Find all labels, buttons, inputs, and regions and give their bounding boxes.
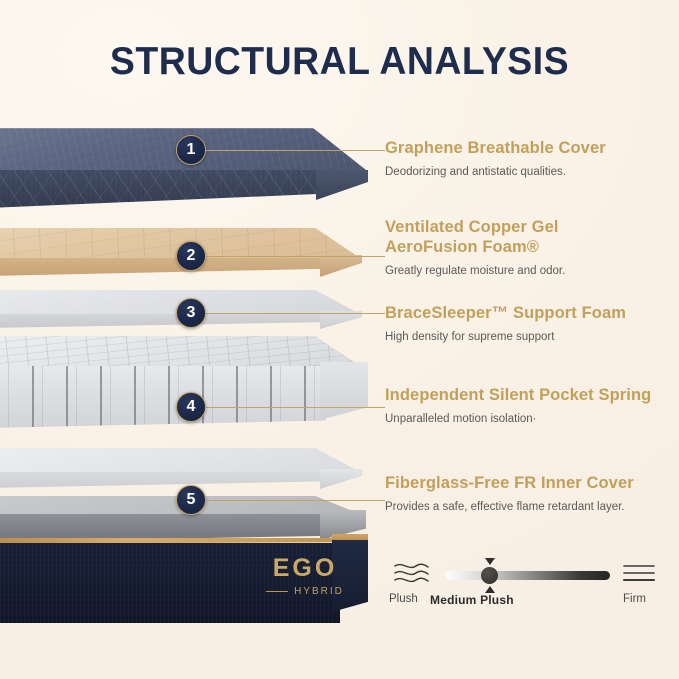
firmness-slider-knob[interactable] xyxy=(481,567,498,584)
layer-label-1: Graphene Breathable Cover Deodorizing an… xyxy=(385,138,679,180)
layer-5-fr-cover-face xyxy=(0,514,326,542)
brand-logo: EGO HYBRID xyxy=(258,556,352,597)
layer-2-title-line-2: AeroFusion Foam® xyxy=(385,237,679,257)
layer-2-copper-gel-foam-face xyxy=(0,258,326,276)
layer-2-copper-gel-foam-side xyxy=(320,255,362,277)
leader-line-3 xyxy=(205,313,385,314)
firmness-selected-label: Medium Plush xyxy=(430,593,514,607)
layer-badge-2[interactable]: 2 xyxy=(176,241,206,271)
layer-badge-5[interactable]: 5 xyxy=(176,485,206,515)
layer-3-support-foam-face xyxy=(0,314,326,328)
leader-line-4 xyxy=(205,407,385,408)
layer-2-description: Greatly regulate moisture and odor. xyxy=(385,264,679,279)
layer-badge-4[interactable]: 4 xyxy=(176,392,206,422)
layer-badge-1[interactable]: 1 xyxy=(176,135,206,165)
firmness-left-label: Plush xyxy=(389,593,418,605)
layer-4-title: Independent Silent Pocket Spring xyxy=(385,385,679,405)
layer-2-title-line-1: Ventilated Copper Gel xyxy=(385,217,679,237)
layer-3-title: BraceSleeper™ Support Foam xyxy=(385,303,679,323)
layer-5-title: Fiberglass-Free FR Inner Cover xyxy=(385,473,679,493)
layer-5-description: Provides a safe, effective flame retarda… xyxy=(385,500,679,515)
layer-label-2: Ventilated Copper Gel AeroFusion Foam® G… xyxy=(385,217,679,279)
layer-1-graphene-cover-face xyxy=(0,170,328,208)
layer-1-graphene-cover-side xyxy=(316,170,368,200)
layer-1-description: Deodorizing and antistatic qualities. xyxy=(385,165,679,180)
firmness-marker-up-icon xyxy=(485,558,495,565)
layer-badge-3[interactable]: 3 xyxy=(176,298,206,328)
firmness-slider[interactable] xyxy=(445,571,610,580)
layer-4-pocket-spring-top xyxy=(0,336,360,366)
leader-line-5 xyxy=(205,500,385,501)
firmness-slider-track[interactable] xyxy=(445,571,610,580)
mattress-layer-stack: EGO HYBRID xyxy=(0,0,390,679)
layer-4-pocket-spring-coils xyxy=(0,366,326,428)
lines-icon xyxy=(621,562,657,584)
layer-5-fr-cover-upper-top xyxy=(0,448,360,472)
layer-label-3: BraceSleeper™ Support Foam High density … xyxy=(385,303,679,345)
brand-name: EGO xyxy=(258,556,352,581)
layer-label-4: Independent Silent Pocket Spring Unparal… xyxy=(385,385,679,427)
layer-4-pocket-spring-side xyxy=(320,362,368,420)
firmness-marker-down-icon xyxy=(485,586,495,593)
layer-3-description: High density for supreme support xyxy=(385,330,679,345)
leader-line-1 xyxy=(205,150,385,151)
layer-4-description: Unparalleled motion isolation· xyxy=(385,412,679,427)
brand-sub: HYBRID xyxy=(294,586,344,597)
layer-label-5: Fiberglass-Free FR Inner Cover Provides … xyxy=(385,473,679,515)
layer-5-fr-cover-upper-side xyxy=(320,469,362,489)
firmness-right-label: Firm xyxy=(623,593,646,605)
layer-5-fr-cover-upper-face xyxy=(0,472,326,488)
brand-sub-row: HYBRID xyxy=(258,586,352,597)
leader-line-2 xyxy=(205,256,385,257)
firmness-scale: Plush Medium Plush Firm xyxy=(385,556,657,616)
waves-icon xyxy=(391,560,433,586)
layer-1-title: Graphene Breathable Cover xyxy=(385,138,679,158)
logo-dash-icon xyxy=(266,591,288,592)
